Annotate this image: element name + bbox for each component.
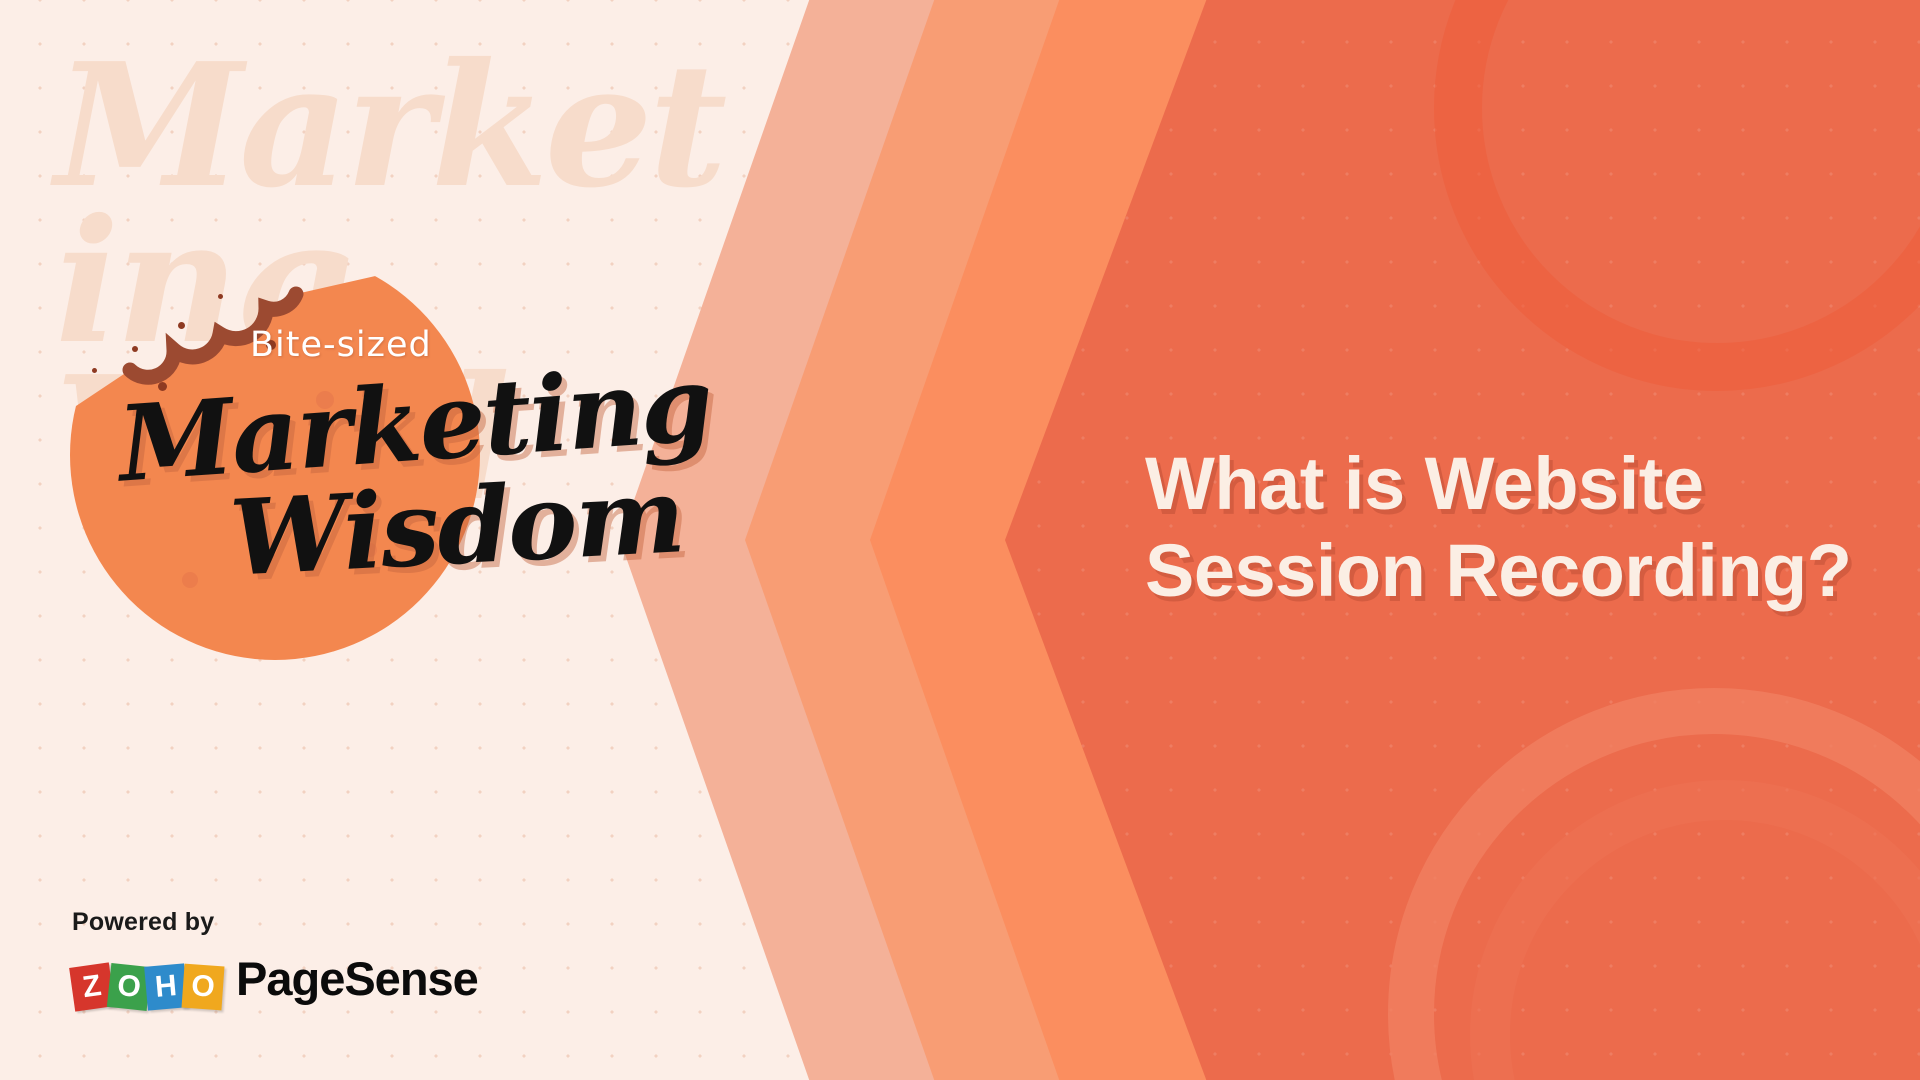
pagesense-wordmark: PageSense <box>236 951 478 1006</box>
badge-tagline: Bite-sized <box>250 325 432 365</box>
zoho-cube-o2: O <box>182 964 225 1011</box>
crumb-dot <box>132 346 138 352</box>
crumb-dot <box>92 368 97 373</box>
zoho-logo: Z O H O <box>72 947 220 1009</box>
crumb-dot <box>178 322 185 329</box>
headline-title: What is Website Session Recording? <box>1145 440 1865 615</box>
powered-by-label: Powered by <box>72 908 478 937</box>
crumb-dot <box>218 294 223 299</box>
badge-script-line-2: Wisdom <box>227 453 686 600</box>
powered-by-block: Powered by Z O H O PageSense <box>72 908 478 1009</box>
brand-row: Z O H O PageSense <box>72 947 478 1009</box>
bite-sized-marketing-wisdom-badge: Bite-sized Marketing Wisdom <box>70 250 490 660</box>
banner-canvas: Market ing Wisd What is Website Session … <box>0 0 1920 1080</box>
